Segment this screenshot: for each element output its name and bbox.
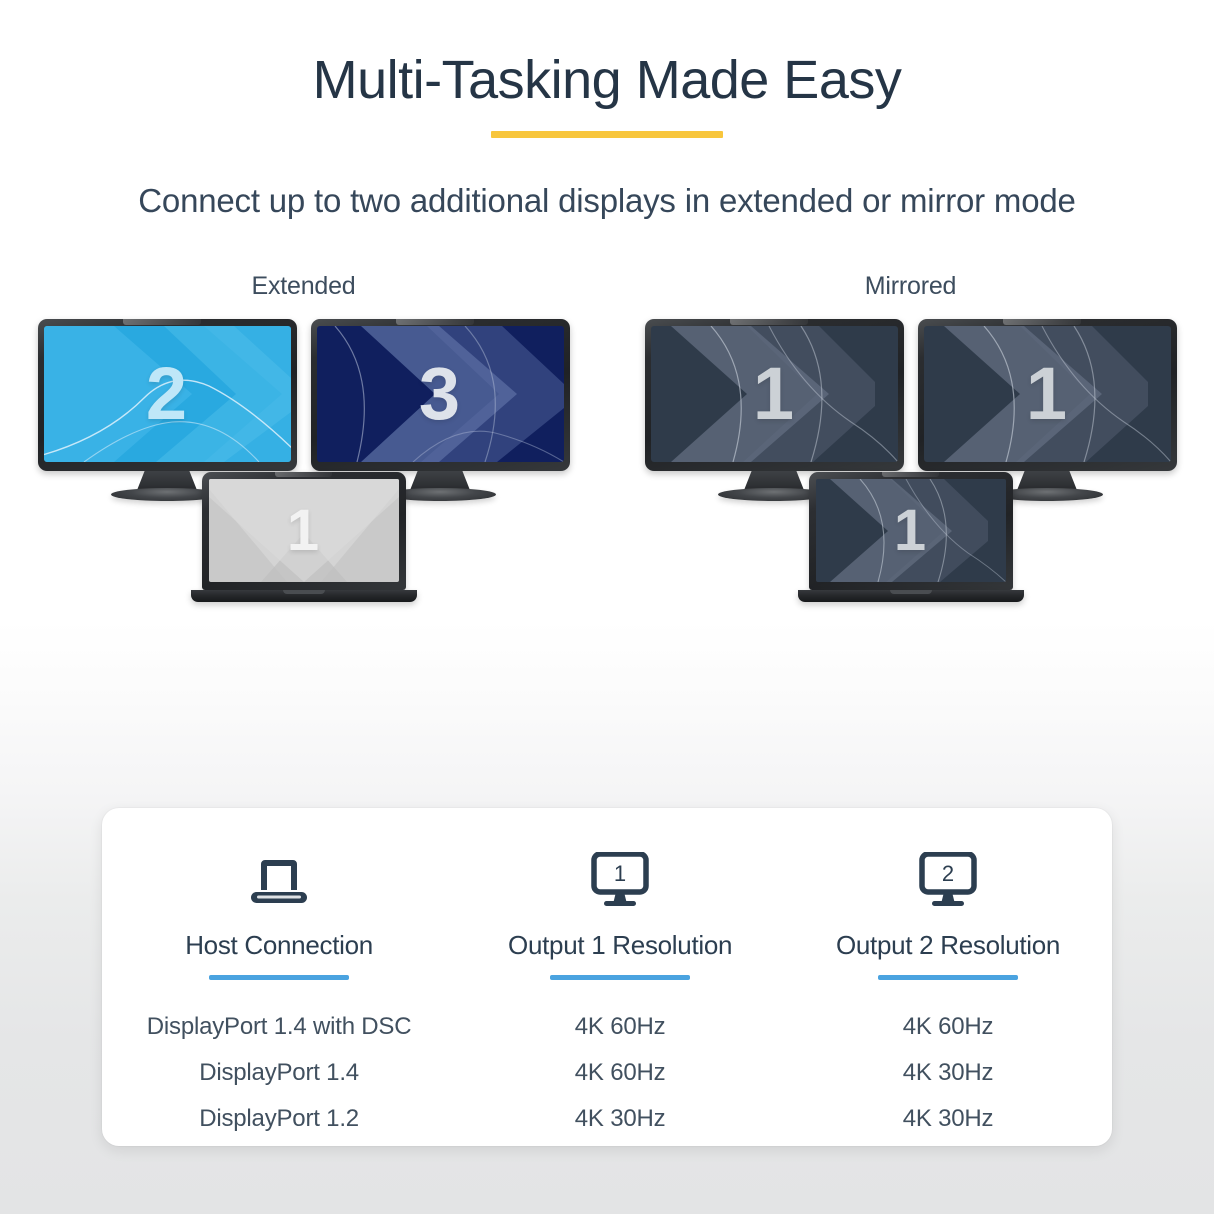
- page-subtitle: Connect up to two additional displays in…: [0, 182, 1214, 220]
- spec-column-output-1: 1 Output 1 Resolution: [456, 830, 784, 980]
- screen-number: 2: [44, 326, 291, 462]
- spec-column-accent-rule: [878, 975, 1018, 980]
- monitor-bezel: 3: [311, 319, 570, 471]
- cell-host-connection: DisplayPort 1.2: [102, 1105, 456, 1133]
- cell-host-connection: DisplayPort 1.4 with DSC: [102, 1013, 456, 1041]
- spec-column-accent-rule: [209, 975, 349, 980]
- screen-number: 1: [816, 479, 1006, 582]
- monitor-screen: 2: [44, 326, 291, 462]
- cell-output-1: 4K 30Hz: [456, 1105, 784, 1133]
- monitor-bezel: 2: [38, 319, 297, 471]
- table-row: DisplayPort 1.4 with DSC 4K 60Hz 4K 60Hz: [102, 1004, 1112, 1050]
- spec-column-accent-rule: [550, 975, 690, 980]
- display-group-mirrored: Mirrored: [607, 272, 1214, 503]
- group-label-extended: Extended: [0, 272, 607, 301]
- cell-output-2: 4K 30Hz: [784, 1105, 1112, 1133]
- table-row: DisplayPort 1.2 4K 30Hz 4K 30Hz: [102, 1096, 1112, 1142]
- header: Multi-Tasking Made Easy Connect up to tw…: [0, 0, 1214, 220]
- laptop-mirrored-wrap: 1: [607, 472, 1214, 602]
- laptop-base: [798, 590, 1024, 602]
- cell-output-1: 4K 60Hz: [456, 1013, 784, 1041]
- laptop-trackpad-notch: [283, 590, 325, 594]
- display-group-extended: Extended: [0, 272, 607, 503]
- group-label-mirrored: Mirrored: [607, 272, 1214, 301]
- spec-column-host-connection: Host Connection: [102, 830, 456, 980]
- title-accent-rule: [491, 131, 723, 138]
- laptop-screen: 1: [816, 479, 1006, 582]
- laptop-icon: [102, 830, 456, 908]
- laptop-mirrored: 1: [809, 472, 1013, 602]
- monitor-screen: 1: [924, 326, 1171, 462]
- monitor-1-icon: 1: [456, 830, 784, 908]
- cell-output-2: 4K 60Hz: [784, 1013, 1112, 1041]
- spec-table-body: DisplayPort 1.4 with DSC 4K 60Hz 4K 60Hz…: [102, 1004, 1112, 1142]
- laptop-extended-wrap: 1: [0, 472, 607, 602]
- monitor-screen: 3: [317, 326, 564, 462]
- laptop-screen: 1: [209, 479, 399, 582]
- monitor-bezel: 1: [645, 319, 904, 471]
- monitor-screen: 1: [651, 326, 898, 462]
- screen-number: 1: [924, 326, 1171, 462]
- spec-column-title: Host Connection: [102, 930, 456, 961]
- laptop-trackpad-notch: [890, 590, 932, 594]
- table-row: DisplayPort 1.4 4K 60Hz 4K 30Hz: [102, 1050, 1112, 1096]
- monitor-2-icon: 2: [784, 830, 1112, 908]
- screen-number: 3: [317, 326, 564, 462]
- screen-number: 1: [209, 479, 399, 582]
- monitor-bezel: 1: [918, 319, 1177, 471]
- screen-number: 1: [651, 326, 898, 462]
- display-modes-illustration: Extended: [0, 272, 1214, 672]
- monitor-icon-number: 2: [942, 861, 954, 886]
- cell-output-1: 4K 60Hz: [456, 1059, 784, 1087]
- laptop-lid: 1: [202, 472, 406, 590]
- spec-table-card: Host Connection 1 Output 1 Resolution: [102, 808, 1112, 1146]
- monitor-icon-number: 1: [614, 861, 626, 886]
- laptop-lid: 1: [809, 472, 1013, 590]
- cell-output-2: 4K 30Hz: [784, 1059, 1112, 1087]
- laptop-base: [191, 590, 417, 602]
- page-root: Multi-Tasking Made Easy Connect up to tw…: [0, 0, 1214, 1214]
- spec-column-output-2: 2 Output 2 Resolution: [784, 830, 1112, 980]
- spec-column-title: Output 1 Resolution: [456, 930, 784, 961]
- cell-host-connection: DisplayPort 1.4: [102, 1059, 456, 1087]
- spec-table-header-row: Host Connection 1 Output 1 Resolution: [102, 808, 1112, 980]
- page-title: Multi-Tasking Made Easy: [0, 52, 1214, 109]
- spec-column-title: Output 2 Resolution: [784, 930, 1112, 961]
- laptop-extended: 1: [202, 472, 406, 602]
